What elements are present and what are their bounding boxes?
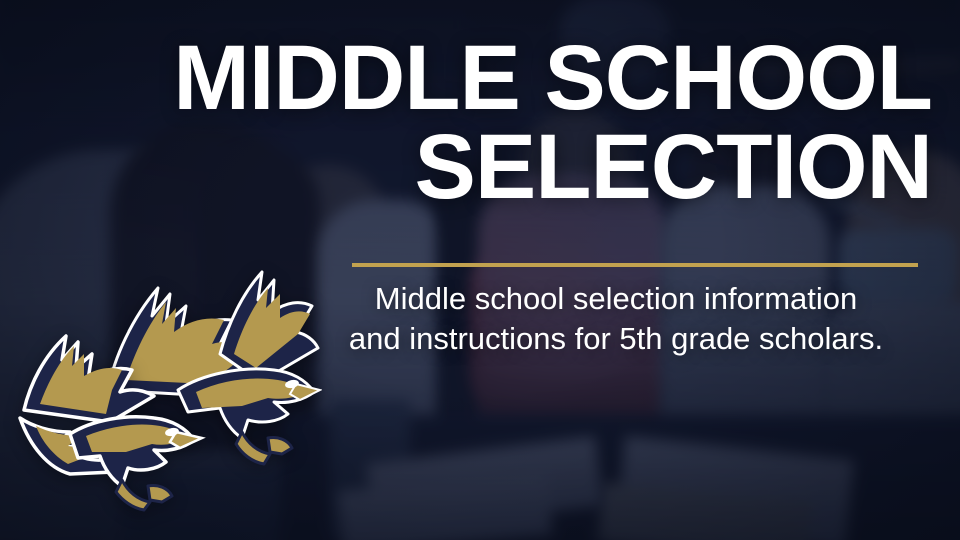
title-line-2: SELECTION (0, 123, 932, 212)
slide-content: MIDDLE SCHOOL SELECTION Middle school se… (0, 0, 960, 540)
title-line-1: MIDDLE SCHOOL (0, 34, 932, 123)
subtitle: Middle school selection information and … (300, 279, 932, 360)
subtitle-line-1: Middle school selection information (300, 279, 932, 319)
eagle-mascot-logo-front (14, 322, 214, 512)
slide-canvas: MIDDLE SCHOOL SELECTION Middle school se… (0, 0, 960, 540)
page-title: MIDDLE SCHOOL SELECTION (0, 34, 932, 212)
subtitle-line-2: and instructions for 5th grade scholars. (300, 319, 932, 359)
gold-divider (352, 263, 918, 267)
